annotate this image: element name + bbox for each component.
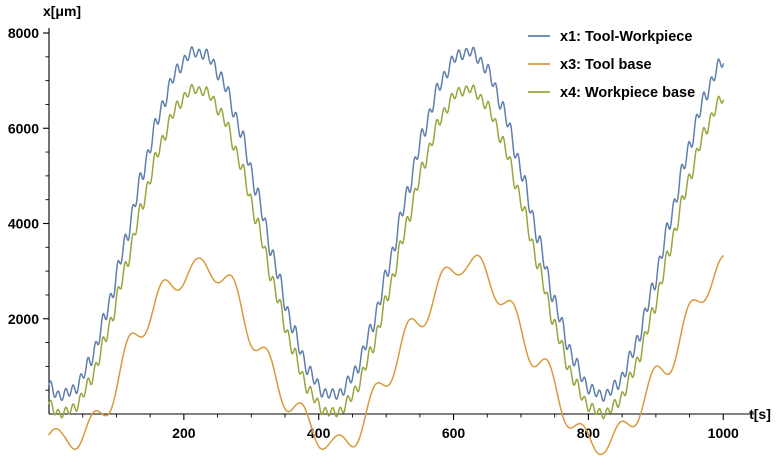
legend-label-2: x4: Workpiece base: [560, 85, 695, 101]
x-axis-title: t[s]: [749, 406, 771, 422]
chart-container: 2004006008001000t[s]2000400060008000x[μm…: [0, 0, 782, 467]
legend-label-1: x3: Tool base: [560, 57, 652, 73]
x-tick-label: 600: [442, 425, 466, 441]
x-tick-label: 800: [577, 425, 601, 441]
series-line-x4: [49, 85, 723, 419]
legend-label-0: x1: Tool-Workpiece: [560, 29, 692, 45]
legend: x1: Tool-Workpiecex3: Tool basex4: Workp…: [528, 29, 695, 101]
y-tick-label: 6000: [8, 120, 39, 136]
y-tick-label: 4000: [8, 216, 39, 232]
series-line-x3: [49, 255, 723, 454]
series-group: [49, 47, 723, 455]
axes: 2004006008001000t[s]2000400060008000x[μm…: [8, 3, 771, 441]
y-axis-title: x[μm]: [43, 3, 81, 19]
x-tick-label: 1000: [708, 425, 739, 441]
x-tick-label: 400: [307, 425, 331, 441]
y-tick-label: 2000: [8, 311, 39, 327]
line-chart: 2004006008001000t[s]2000400060008000x[μm…: [0, 0, 782, 467]
x-tick-label: 200: [172, 425, 196, 441]
y-tick-label: 8000: [8, 25, 39, 41]
